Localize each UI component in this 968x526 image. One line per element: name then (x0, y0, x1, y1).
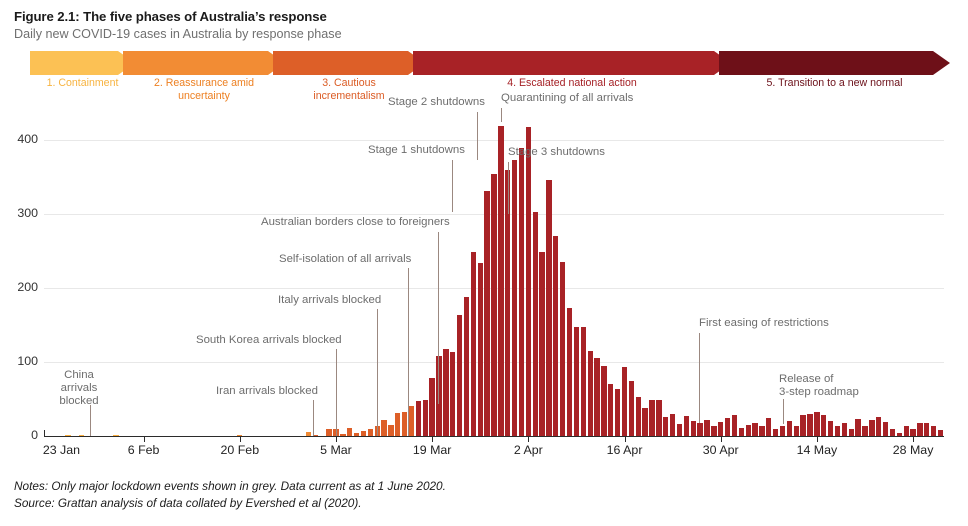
bar (732, 415, 737, 436)
annotation-label: China arrivals blocked (55, 369, 103, 408)
annotation-label: Self-isolation of all arrivals (279, 253, 414, 266)
x-tick-label: 14 May (797, 443, 838, 457)
chart-plot: 0100200300400 23 Jan6 Feb20 Feb5 Mar19 M… (0, 0, 968, 470)
bar (601, 366, 606, 436)
annotation-label: South Korea arrivals blocked (196, 334, 348, 347)
annotation-leader-line (508, 162, 509, 214)
bar (821, 415, 826, 436)
annotation-leader-line (452, 160, 453, 212)
x-tick (913, 436, 914, 442)
annotation-label: Iran arrivals blocked (216, 385, 326, 398)
bar (807, 414, 812, 436)
bar (835, 426, 840, 436)
bar (402, 412, 407, 436)
annotation-leader-line (438, 232, 439, 404)
bar (388, 425, 393, 436)
bar (526, 127, 531, 436)
bar (368, 429, 373, 436)
bar (471, 252, 476, 436)
bar (684, 416, 689, 436)
y-tick-label: 0 (31, 428, 38, 442)
bar (608, 384, 613, 436)
footer-source: Source: Grattan analysis of data collate… (14, 495, 954, 512)
bar (622, 367, 627, 436)
bar (869, 420, 874, 436)
bar (842, 423, 847, 436)
chart-footer: Notes: Only major lockdown events shown … (14, 478, 954, 512)
bar (615, 389, 620, 436)
bar (677, 424, 682, 436)
bar (787, 421, 792, 436)
bar (663, 417, 668, 436)
bar (409, 406, 414, 436)
bar (423, 400, 428, 436)
annotation-leader-line (313, 400, 314, 436)
annotation-leader-line (477, 112, 478, 160)
x-axis-line (44, 436, 944, 437)
bar (670, 414, 675, 436)
x-tick (721, 436, 722, 442)
annotation-label: Australian borders close to foreigners (261, 216, 453, 229)
bar (560, 262, 565, 436)
bar (588, 351, 593, 436)
annotation-leader-line (90, 405, 91, 436)
bar (739, 428, 744, 436)
x-tick (817, 436, 818, 442)
x-tick (336, 436, 337, 442)
bar (704, 420, 709, 436)
bar (649, 400, 654, 436)
bar (910, 429, 915, 436)
bar (347, 428, 352, 436)
annotation-leader-line (501, 108, 502, 122)
x-tick-label: 20 Feb (221, 443, 260, 457)
bar (876, 417, 881, 436)
x-tick (240, 436, 241, 442)
bar (457, 315, 462, 437)
y-tick-label: 100 (17, 354, 38, 368)
bar (429, 378, 434, 436)
bar (849, 429, 854, 436)
x-tick-label: 23 Jan (43, 443, 80, 457)
bar (326, 429, 331, 436)
bar (752, 423, 757, 436)
bar (691, 421, 696, 436)
bar (904, 426, 909, 436)
bar (766, 418, 771, 436)
bar (931, 426, 936, 436)
y-tick-label: 300 (17, 206, 38, 220)
annotation-leader-line (408, 268, 409, 436)
bar (636, 397, 641, 436)
bar (814, 412, 819, 436)
y-tick-label: 400 (17, 132, 38, 146)
bar (519, 148, 524, 436)
bar (828, 421, 833, 436)
annotation-leader-line (336, 349, 337, 436)
x-tick-label: 5 Mar (320, 443, 352, 457)
bar (917, 423, 922, 436)
bar (395, 413, 400, 436)
bar (567, 308, 572, 436)
bar (533, 212, 538, 436)
bar (890, 429, 895, 436)
x-tick-label: 6 Feb (128, 443, 160, 457)
x-tick (528, 436, 529, 442)
bar (546, 180, 551, 436)
bar (484, 191, 489, 436)
bar (746, 425, 751, 436)
annotation-label: First easing of restrictions (699, 317, 831, 330)
bar (416, 401, 421, 436)
annotation-label: Italy arrivals blocked (278, 294, 394, 307)
annotation-leader-line (699, 333, 700, 423)
bar (381, 420, 386, 436)
annotation-label: Stage 2 shutdowns (388, 96, 488, 109)
bar (491, 174, 496, 436)
annotation-leader-line (783, 399, 784, 424)
x-tick (144, 436, 145, 442)
y-axis-labels: 0100200300400 (0, 110, 38, 436)
x-tick-label: 19 Mar (413, 443, 452, 457)
annotation-label: Stage 1 shutdowns (368, 144, 468, 157)
bar (512, 160, 517, 436)
bar (883, 422, 888, 436)
annotation-label: Release of 3-step roadmap (779, 373, 871, 399)
y-tick-label: 200 (17, 280, 38, 294)
x-tick-label: 28 May (893, 443, 934, 457)
bar (794, 426, 799, 436)
bar (464, 297, 469, 436)
bar (450, 352, 455, 436)
annotation-label: Quarantining of all arrivals (501, 92, 641, 105)
bar (581, 327, 586, 436)
bar (718, 422, 723, 436)
x-tick-label: 2 Apr (514, 443, 543, 457)
bar (629, 381, 634, 436)
bar (697, 423, 702, 436)
bar (862, 426, 867, 436)
bar (443, 349, 448, 436)
bar (574, 327, 579, 436)
footer-notes: Notes: Only major lockdown events shown … (14, 478, 954, 495)
x-tick (625, 436, 626, 442)
bar (800, 415, 805, 436)
bar (711, 426, 716, 436)
annotation-leader-line (377, 309, 378, 436)
bar (478, 263, 483, 436)
bar (539, 252, 544, 436)
annotation-label: Stage 3 shutdowns (508, 146, 610, 159)
x-tick-label: 30 Apr (703, 443, 739, 457)
bar (553, 236, 558, 436)
bar (498, 126, 503, 436)
bar (773, 429, 778, 436)
bar (594, 358, 599, 436)
bar (725, 418, 730, 436)
bar (642, 408, 647, 436)
bar (656, 400, 661, 436)
x-tick (432, 436, 433, 442)
bar (855, 419, 860, 436)
bar (780, 426, 785, 436)
bar (924, 423, 929, 436)
x-tick-label: 16 Apr (607, 443, 643, 457)
bar (759, 426, 764, 436)
